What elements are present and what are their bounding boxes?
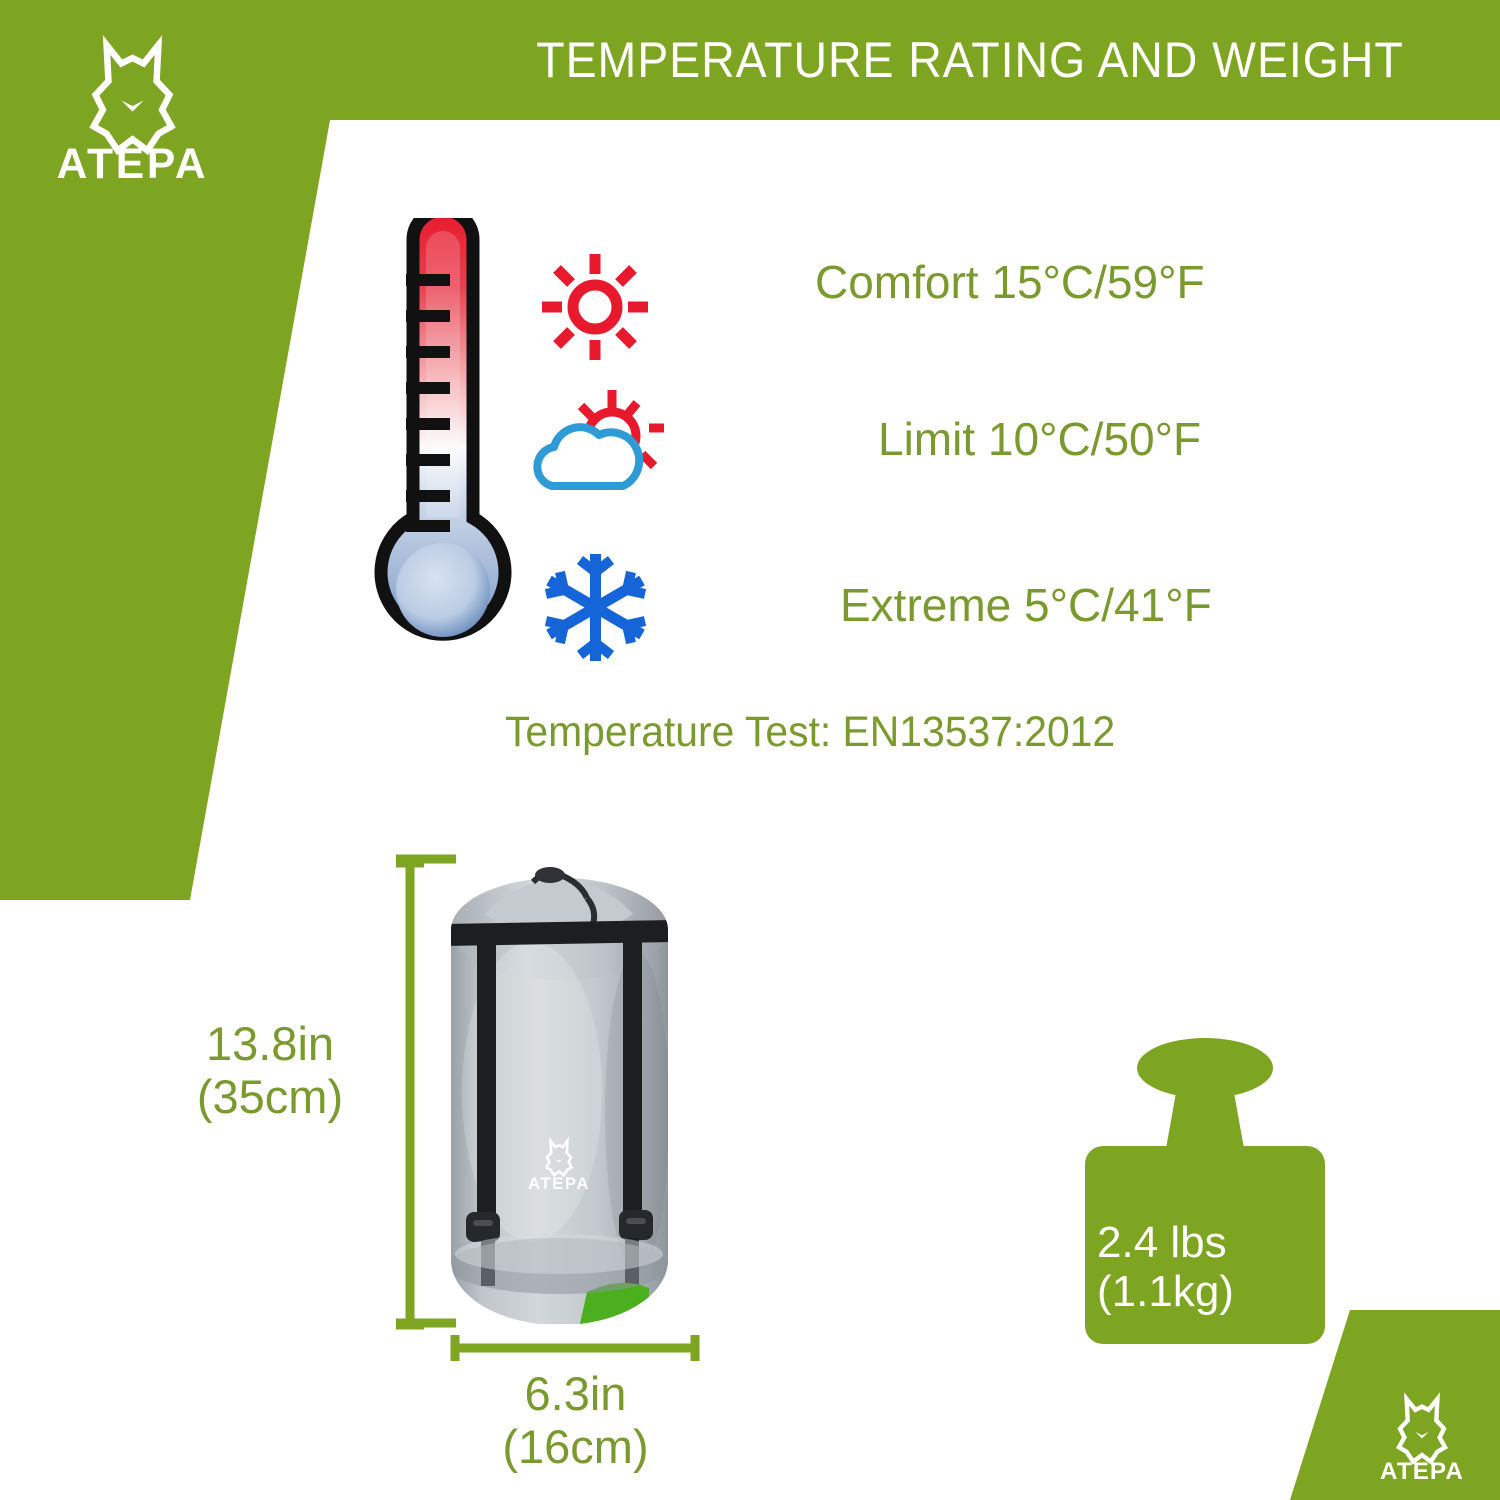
svg-text:ATEPA: ATEPA [528, 1174, 590, 1193]
compression-stuff-sack-photo: ATEPA [437, 862, 682, 1324]
rating-comfort-label: Comfort 15°C/59°F [815, 255, 1205, 309]
brand-wordmark: ATEPA [57, 140, 209, 183]
height-dimension-label: 13.8in (35cm) [150, 1018, 390, 1123]
temperature-test-standard: Temperature Test: EN13537:2012 [505, 708, 1115, 757]
infographic-canvas: TEMPERATURE RATING AND WEIGHT ATEPA [0, 0, 1500, 1500]
sun-icon [540, 252, 650, 362]
snowflake-icon [538, 550, 653, 665]
height-dimension-top-arm [396, 854, 456, 864]
width-value-in: 6.3in [438, 1368, 713, 1421]
height-dimension-line [396, 858, 424, 1330]
partly-cloudy-icon [524, 388, 664, 503]
compression-strap-right [623, 930, 642, 1230]
webbing-band [437, 920, 682, 947]
weight-lbs: 2.4 lbs [1097, 1218, 1297, 1267]
brand-logo-top-left: ATEPA [40, 30, 225, 183]
height-value-cm: (35cm) [150, 1071, 390, 1124]
wolf-head-icon: ATEPA [40, 30, 225, 183]
weight-label: 2.4 lbs (1.1kg) [1085, 1218, 1297, 1317]
svg-text:ATEPA: ATEPA [1380, 1458, 1464, 1481]
thermometer-icon [358, 218, 528, 683]
width-value-cm: (16cm) [438, 1421, 713, 1474]
brand-logo-bottom-right: ATEPA [1362, 1390, 1482, 1486]
page-title: TEMPERATURE RATING AND WEIGHT [477, 0, 1463, 120]
compression-strap-left [477, 930, 496, 1230]
width-dimension-label: 6.3in (16cm) [438, 1368, 713, 1473]
height-value-in: 13.8in [150, 1018, 390, 1071]
width-dimension-line [450, 1335, 700, 1361]
weight-kg: (1.1kg) [1097, 1267, 1297, 1316]
svg-text:ATEPA: ATEPA [57, 140, 209, 183]
wolf-head-icon: ATEPA [1367, 1390, 1477, 1481]
rating-extreme-label: Extreme 5°C/41°F [840, 578, 1212, 632]
rating-limit-label: Limit 10°C/50°F [878, 412, 1201, 466]
height-dimension-bottom-arm [396, 1318, 456, 1328]
